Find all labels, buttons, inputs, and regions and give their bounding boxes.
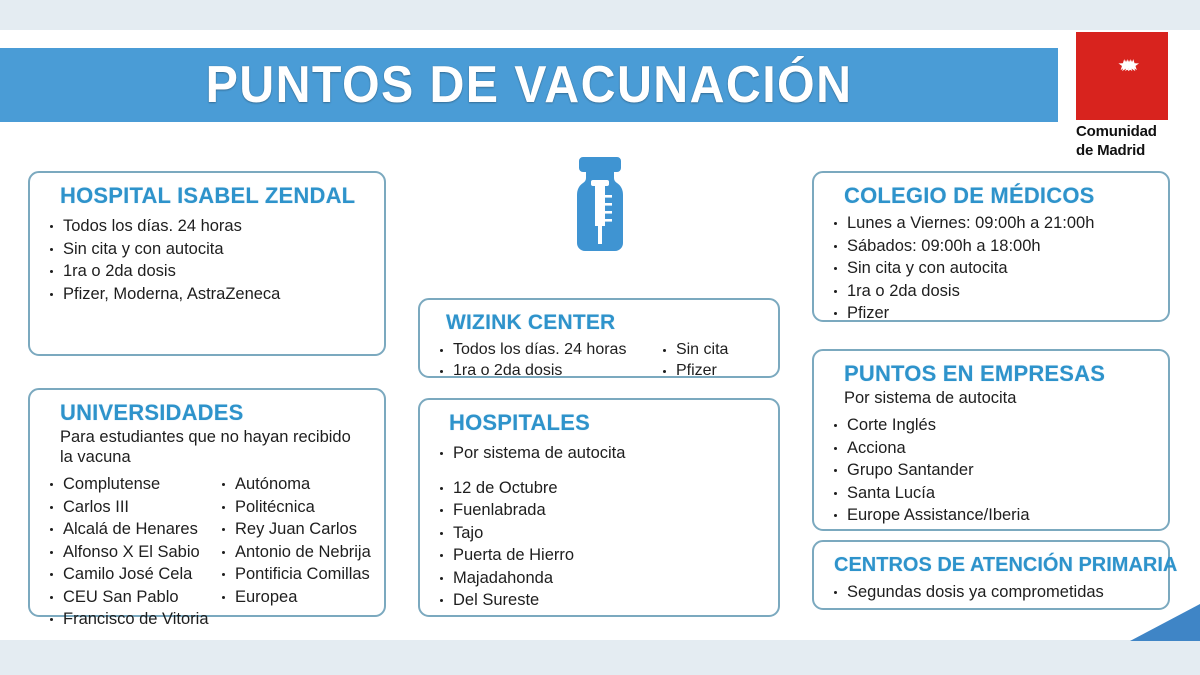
card-puntos-en-empresas: PUNTOS EN EMPRESAS Por sistema de autoci… — [812, 349, 1170, 531]
list-item: Acciona — [830, 437, 1152, 460]
logo-red-square — [1076, 32, 1168, 120]
empresas-note: Por sistema de autocita — [830, 388, 1152, 408]
list-item: Sin cita y con autocita — [830, 257, 1152, 280]
card-wizink-center: WIZINK CENTER Todos los días. 24 horas 1… — [418, 298, 780, 378]
wizink-columns: Todos los días. 24 horas 1ra o 2da dosis… — [436, 336, 762, 381]
list-item: Pfizer, Moderna, AstraZeneca — [46, 283, 368, 306]
list-item: Pfizer — [830, 302, 1152, 325]
list-item: Complutense — [46, 473, 218, 496]
list-item: Sin cita — [659, 339, 762, 360]
list-item: Tajo — [436, 522, 762, 545]
universidades-note: Para estudiantes que no hayan recibido l… — [46, 427, 368, 467]
wizink-list-right: Sin cita Pfizer — [659, 339, 762, 381]
list-item: Autónoma — [218, 473, 378, 496]
list-item: Camilo José Cela — [46, 563, 218, 586]
list-item: Corte Inglés — [830, 414, 1152, 437]
list-item: Majadahonda — [436, 567, 762, 590]
top-band — [0, 0, 1200, 30]
logo-text-line2: de Madrid — [1076, 143, 1168, 158]
card-title: PUNTOS EN EMPRESAS — [830, 361, 1152, 387]
list-item: Todos los días. 24 horas — [436, 339, 659, 360]
list-item: Sin cita y con autocita — [46, 238, 368, 261]
card-universidades: UNIVERSIDADES Para estudiantes que no ha… — [28, 388, 386, 617]
list-item: 12 de Octubre — [436, 477, 762, 500]
list-item: Europea — [218, 586, 378, 609]
universidades-list-right: Autónoma Politécnica Rey Juan Carlos Ant… — [218, 473, 378, 631]
list-item: Puerta de Hierro — [436, 544, 762, 567]
list-item: Politécnica — [218, 496, 378, 519]
bottom-band — [0, 640, 1200, 675]
list-item: Antonio de Nebrija — [218, 541, 378, 564]
list-item: Grupo Santander — [830, 459, 1152, 482]
list-item: 1ra o 2da dosis — [46, 260, 368, 283]
list-item: 1ra o 2da dosis — [830, 280, 1152, 303]
list-item: Fuenlabrada — [436, 499, 762, 522]
card-centros-de-atencion-primaria: CENTROS DE ATENCIÓN PRIMARIA Segundas do… — [812, 540, 1170, 610]
card-title: UNIVERSIDADES — [46, 400, 368, 426]
list-item: Del Sureste — [436, 589, 762, 612]
header-bar: PUNTOS DE VACUNACIÓN — [0, 48, 1058, 122]
card-title: WIZINK CENTER — [436, 310, 762, 336]
empresas-list: Corte Inglés Acciona Grupo Santander San… — [830, 414, 1152, 527]
comunidad-de-madrid-logo: Comunidad de Madrid — [1076, 32, 1168, 158]
wizink-list-left: Todos los días. 24 horas 1ra o 2da dosis — [436, 339, 659, 381]
list-item: Alcalá de Henares — [46, 518, 218, 541]
list-item: Francisco de Vitoria — [46, 608, 218, 631]
list-item: Por sistema de autocita — [436, 442, 762, 465]
page-title: PUNTOS DE VACUNACIÓN — [37, 48, 1021, 122]
list-item: CEU San Pablo — [46, 586, 218, 609]
universidades-columns: Complutense Carlos III Alcalá de Henares… — [46, 467, 368, 631]
list-item: Alfonso X El Sabio — [46, 541, 218, 564]
card-title: HOSPITALES — [436, 410, 762, 436]
list-item: Rey Juan Carlos — [218, 518, 378, 541]
list-item: Pontificia Comillas — [218, 563, 378, 586]
logo-stars — [1076, 58, 1168, 59]
list-item: Lunes a Viernes: 09:00h a 21:00h — [830, 212, 1152, 235]
card-colegio-de-medicos: COLEGIO DE MÉDICOS Lunes a Viernes: 09:0… — [812, 171, 1170, 322]
list-item: Segundas dosis ya comprometidas — [830, 581, 1152, 604]
list-item: 1ra o 2da dosis — [436, 360, 659, 381]
vaccine-vial-icon — [569, 155, 631, 255]
list-item: Pfizer — [659, 360, 762, 381]
infographic-canvas: PUNTOS DE VACUNACIÓN Comunidad de Madrid — [0, 0, 1200, 675]
card-hospitales: HOSPITALES Por sistema de autocita 12 de… — [418, 398, 780, 617]
card-title: CENTROS DE ATENCIÓN PRIMARIA — [830, 552, 1152, 578]
zendal-list: Todos los días. 24 horas Sin cita y con … — [46, 215, 368, 305]
universidades-list-left: Complutense Carlos III Alcalá de Henares… — [46, 473, 218, 631]
corner-triangle-decoration — [1130, 604, 1200, 641]
list-item: Carlos III — [46, 496, 218, 519]
hospitales-list: Por sistema de autocita 12 de Octubre Fu… — [436, 442, 762, 612]
logo-text-line1: Comunidad — [1076, 124, 1168, 139]
list-item: Santa Lucía — [830, 482, 1152, 505]
list-item: Sábados: 09:00h a 18:00h — [830, 235, 1152, 258]
list-item: Europe Assistance/Iberia — [830, 504, 1152, 527]
cap-list: Segundas dosis ya comprometidas — [830, 581, 1152, 604]
list-spacer — [436, 465, 762, 477]
card-title: COLEGIO DE MÉDICOS — [830, 183, 1152, 209]
card-title: HOSPITAL ISABEL ZENDAL — [46, 183, 368, 209]
colegio-list: Lunes a Viernes: 09:00h a 21:00h Sábados… — [830, 212, 1152, 325]
card-hospital-isabel-zendal: HOSPITAL ISABEL ZENDAL Todos los días. 2… — [28, 171, 386, 356]
list-item: Todos los días. 24 horas — [46, 215, 368, 238]
